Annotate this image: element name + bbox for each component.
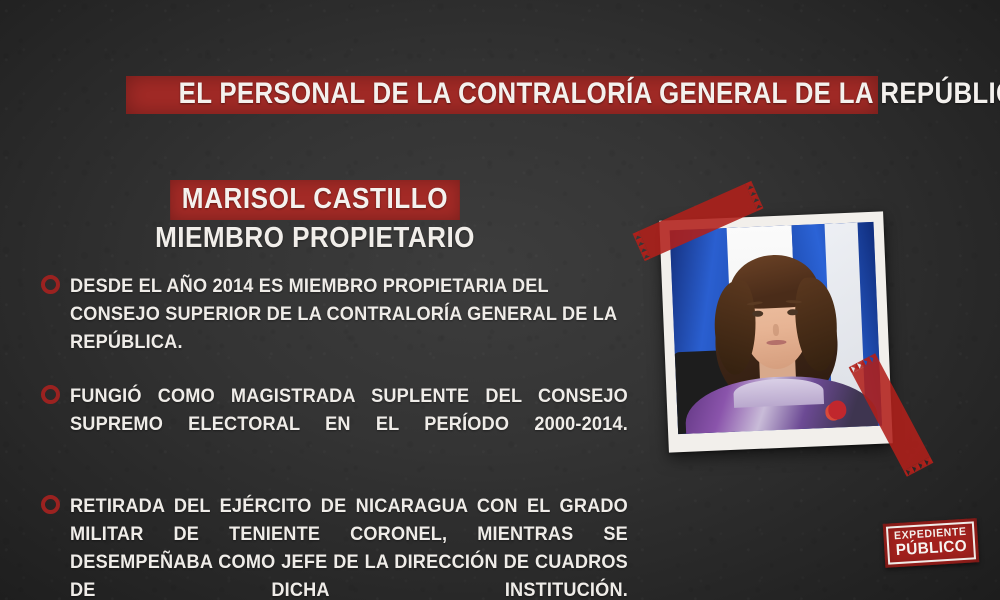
portrait-photo <box>670 222 882 434</box>
list-item-text: RETIRADA DEL EJÉRCITO DE NICARAGUA CON E… <box>70 492 628 600</box>
ring-bullet-icon <box>41 275 60 294</box>
list-item-text: DESDE EL AÑO 2014 ES MIEMBRO PROPIETARIA… <box>70 272 628 356</box>
list-item: FUNGIÓ COMO MAGISTRADA SUPLENTE DEL CONS… <box>40 382 636 466</box>
list-item: RETIRADA DEL EJÉRCITO DE NICARAGUA CON E… <box>40 492 636 600</box>
logo-text-publico: PÚBLICO <box>895 539 967 559</box>
infographic-poster: EL PERSONAL DE LA CONTRALORÍA GENERAL DE… <box>0 0 1000 600</box>
person-identity-block: MARISOL CASTILLO MIEMBRO PROPIETARIO <box>60 180 570 255</box>
list-item: DESDE EL AÑO 2014 ES MIEMBRO PROPIETARIA… <box>40 272 636 356</box>
ring-bullet-icon <box>41 385 60 404</box>
logo-inner-border: EXPEDIENTE PÚBLICO <box>886 521 976 564</box>
portrait-photo-block <box>664 216 888 448</box>
biography-bullet-list: DESDE EL AÑO 2014 ES MIEMBRO PROPIETARIA… <box>40 272 636 600</box>
nose <box>773 324 780 336</box>
person-role: MIEMBRO PROPIETARIO <box>86 222 545 255</box>
polaroid-frame <box>659 211 893 452</box>
person-name: MARISOL CASTILLO <box>170 180 460 220</box>
expediente-publico-logo[interactable]: EXPEDIENTE PÚBLICO <box>883 518 980 568</box>
ring-bullet-icon <box>41 495 60 514</box>
page-title: EL PERSONAL DE LA CONTRALORÍA GENERAL DE… <box>179 74 826 114</box>
list-item-text: FUNGIÓ COMO MAGISTRADA SUPLENTE DEL CONS… <box>70 382 628 466</box>
